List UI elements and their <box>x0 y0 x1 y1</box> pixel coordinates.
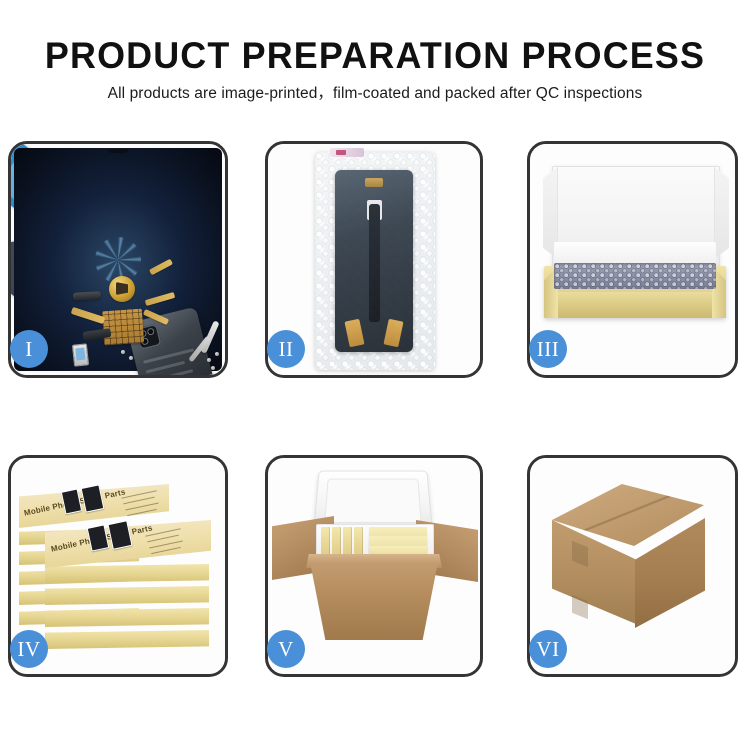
box-front-face <box>544 292 726 318</box>
step-badge-5: V <box>267 630 305 668</box>
phone-notch <box>108 149 128 153</box>
screw-icon <box>207 358 211 362</box>
step-badge-6: VI <box>529 630 567 668</box>
battery-part-icon <box>72 343 89 366</box>
lcd-tab <box>344 319 364 348</box>
process-step-grid: I II <box>0 0 750 750</box>
ic-chip-grid-icon <box>102 309 144 346</box>
bag-seal-label <box>330 148 364 157</box>
stacked-box-slab <box>45 630 209 649</box>
bubble-wrap-fill-icon <box>554 263 716 289</box>
lcd-tab <box>383 319 403 348</box>
box-screen-thumbnail <box>81 484 105 512</box>
screw-icon <box>121 350 125 354</box>
housing-line <box>143 348 194 363</box>
carton-body-icon <box>310 562 438 640</box>
stacked-box-slab <box>45 564 209 583</box>
screw-icon <box>129 356 133 360</box>
lcd-connector <box>365 178 383 187</box>
bubble-wrap-bag-icon <box>315 152 435 370</box>
stacked-box-slab <box>45 586 209 605</box>
lcd-screen-icon <box>335 170 413 352</box>
step-badge-4: IV <box>10 630 48 668</box>
step-badge-3: III <box>529 330 567 368</box>
stacked-box-slab <box>45 608 209 627</box>
lcd-spine <box>369 204 380 322</box>
box-screen-thumbnail <box>108 520 133 550</box>
step-badge-2: II <box>267 330 305 368</box>
screw-icon <box>215 352 219 356</box>
earpiece-part-icon <box>73 291 101 300</box>
product-preparation-process-infographic: PRODUCT PREPARATION PROCESS All products… <box>0 0 750 750</box>
box-stack-icon: Mobile Phone Spare Parts Mobile Phone Sp… <box>17 476 221 666</box>
screw-icon <box>211 366 215 370</box>
speaker-module-icon <box>109 276 135 302</box>
step-badge-1: I <box>10 330 48 368</box>
